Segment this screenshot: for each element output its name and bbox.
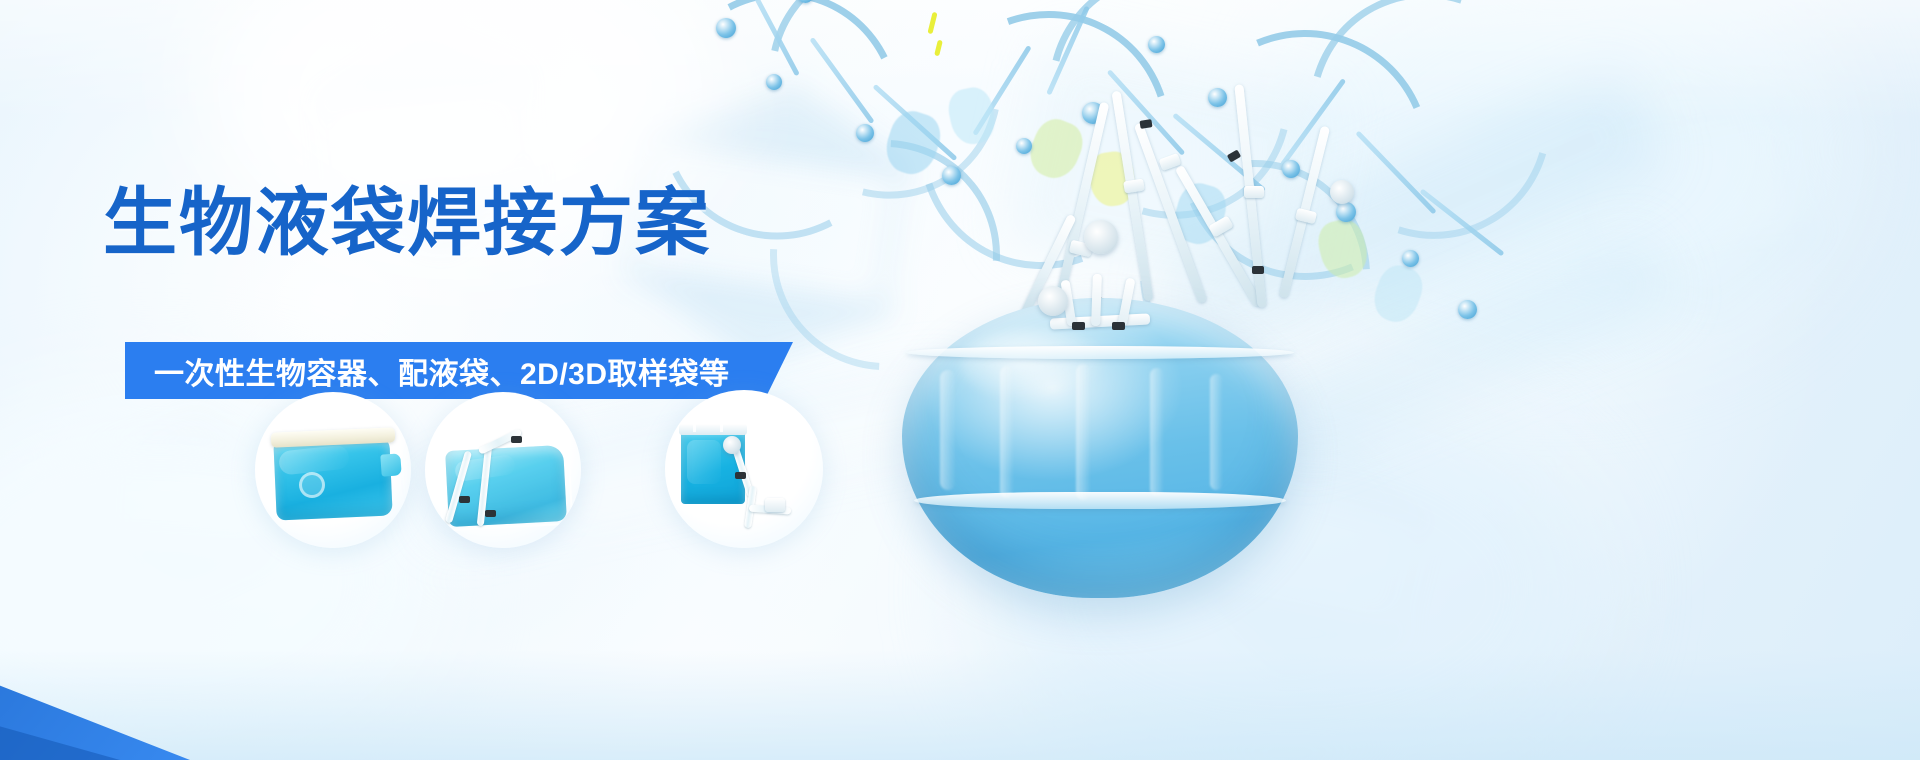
subtitle-bar: 一次性生物容器、配液袋、2D/3D取样袋等: [125, 342, 793, 399]
sampling-bag-sheen: [687, 440, 721, 484]
bag-seam-bottom: [914, 492, 1286, 509]
sampling-bag-connector: [765, 498, 785, 512]
three-d-bag-clamp-left: [459, 496, 470, 503]
page-title: 生物液袋焊接方案: [103, 183, 711, 263]
bottom-fade-overlay: [0, 650, 1920, 760]
bag-seam-top: [906, 346, 1294, 359]
sampling-bag-handle: [693, 416, 723, 432]
three-d-bag-clamp-top: [511, 436, 522, 443]
three-d-bag-clamp-mid: [485, 510, 496, 517]
flat-pillow-bag-tab: [380, 453, 401, 476]
product-circle-flat-pillow-bag: [255, 392, 411, 548]
bag-port-manifold: [1030, 270, 1180, 340]
bag-body: [902, 298, 1298, 598]
flat-pillow-bag-port: [299, 472, 325, 498]
product-circle-sampling-bag: [665, 390, 823, 548]
product-circle-3d-bag: [425, 392, 581, 548]
subtitle-text: 一次性生物容器、配液袋、2D/3D取样袋等: [125, 349, 730, 393]
sampling-bag-port-disc: [723, 436, 741, 454]
main-bioprocess-bag: [880, 270, 1320, 610]
hero-banner: 生物液袋焊接方案 一次性生物容器、配液袋、2D/3D取样袋等: [0, 0, 1920, 760]
sampling-bag-clamp: [735, 472, 746, 479]
